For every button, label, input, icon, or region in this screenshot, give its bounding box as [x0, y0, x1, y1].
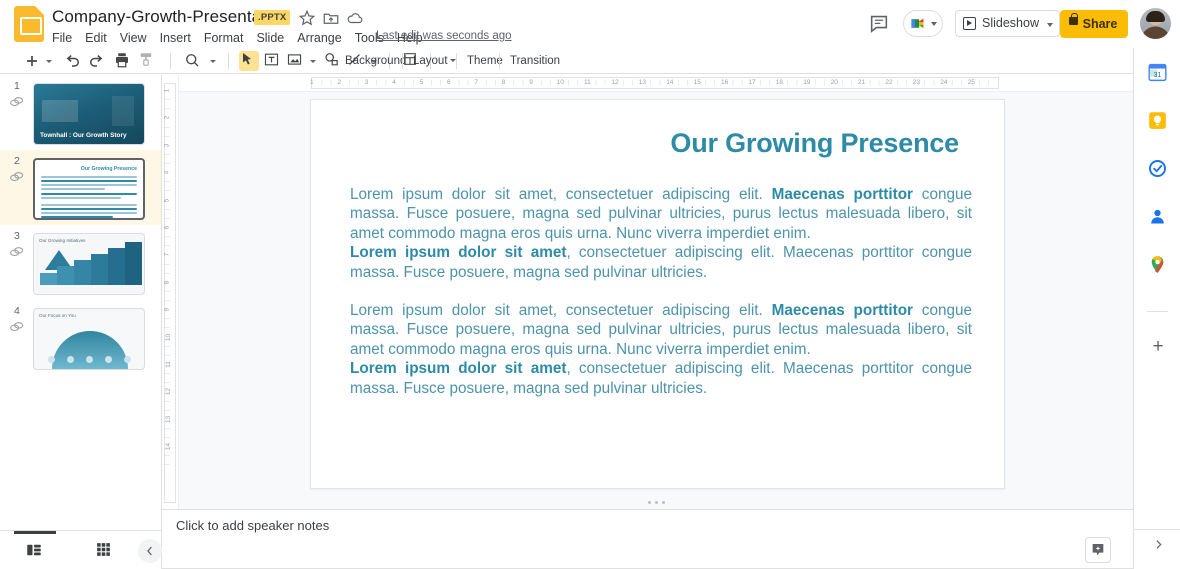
top-bar: Company-Growth-Presentation .PPTX FileEd… — [0, 0, 1180, 48]
ruler-tick: 21 — [858, 79, 865, 86]
ruler-minor-tick: | — [513, 79, 515, 86]
ruler-minor-tick: | — [924, 79, 926, 86]
ruler-minor-tick: | — [988, 79, 990, 86]
menu-slide[interactable]: Slide — [256, 31, 284, 45]
ruler-minor-tick: | — [632, 79, 634, 86]
ruler-tick: 9 — [163, 308, 170, 312]
ruler-tick: 5 — [163, 198, 170, 202]
slideshow-button[interactable]: Slideshow — [955, 10, 1041, 37]
ruler-minor-tick: | — [623, 79, 625, 86]
insert-image-icon[interactable] — [286, 51, 306, 71]
ruler-tick: 1 — [163, 89, 170, 93]
ruler-minor-tick: | — [321, 79, 323, 86]
toolbar-divider-2 — [228, 53, 229, 69]
lock-icon — [1069, 17, 1078, 25]
ruler-tick: 6 — [163, 226, 170, 230]
ruler-minor-tick: | — [951, 79, 953, 86]
slide-thumbnail-1[interactable]: 1 Townhall : Our Growth Story — [0, 75, 161, 150]
ruler-tick: 22 — [885, 79, 892, 86]
thumbnail-title: Our Growing Presence — [81, 166, 137, 172]
ruler-tick: 11 — [165, 361, 172, 368]
ruler-minor-tick: | — [163, 400, 170, 402]
google-keep-icon[interactable] — [1147, 110, 1168, 131]
ruler-tick: 10 — [165, 333, 172, 340]
menu-insert[interactable]: Insert — [160, 31, 191, 45]
ruler-minor-tick: | — [732, 79, 734, 86]
slide-transition-icon[interactable] — [9, 95, 25, 109]
ruler-tick: 2 — [163, 116, 170, 120]
google-tasks-icon[interactable] — [1147, 158, 1168, 179]
ruler-minor-tick: | — [163, 135, 170, 137]
thumbnail-title: Our Growing Initiatives — [39, 238, 85, 243]
slide-paragraph: Lorem ipsum dolor sit amet, consectetuer… — [350, 301, 972, 359]
thumbnail-image: Our Growing Initiatives — [33, 233, 145, 295]
google-slides-logo[interactable] — [14, 6, 44, 42]
ruler-minor-tick: | — [595, 79, 597, 86]
side-panel: 31 + — [1133, 48, 1180, 529]
ruler-tick: 25 — [968, 79, 975, 86]
ruler-minor-tick: | — [604, 79, 606, 86]
ruler-tick: 2 — [337, 79, 341, 86]
ruler-minor-tick: | — [878, 79, 880, 86]
ruler-tick: 8 — [163, 280, 170, 284]
menu-arrange[interactable]: Arrange — [297, 31, 341, 45]
layout-label: Layout — [413, 55, 448, 67]
redo-icon[interactable] — [87, 51, 109, 71]
ruler-minor-tick: | — [163, 345, 170, 347]
slide-body-text[interactable]: Lorem ipsum dolor sit amet, consectetuer… — [350, 185, 972, 398]
select-arrow-icon[interactable] — [239, 51, 259, 71]
slide-title[interactable]: Our Growing Presence — [670, 128, 959, 159]
slide-transition-icon[interactable] — [9, 320, 25, 334]
grid-view-icon[interactable] — [95, 541, 115, 561]
ruler-tick: 11 — [584, 79, 591, 86]
comment-history-icon[interactable] — [868, 12, 890, 34]
notes-resize-handle[interactable] — [179, 497, 1133, 509]
slide-paragraph: Lorem ipsum dolor sit amet, consectetuer… — [350, 359, 972, 398]
ruler-minor-tick: | — [979, 79, 981, 86]
zoom-dropdown-icon[interactable] — [206, 51, 218, 71]
ruler-minor-tick: | — [814, 79, 816, 86]
ruler-minor-tick: | — [686, 79, 688, 86]
slide-paragraph: Lorem ipsum dolor sit amet, consectetuer… — [350, 185, 972, 243]
ruler-minor-tick: | — [851, 79, 853, 86]
ruler-tick: 13 — [639, 79, 646, 86]
ruler-minor-tick: | — [376, 79, 378, 86]
menu-view[interactable]: View — [120, 31, 147, 45]
ruler-minor-tick: | — [163, 208, 170, 210]
print-icon[interactable] — [113, 51, 135, 71]
ruler-tick: 3 — [365, 79, 369, 86]
ruler-minor-tick: | — [787, 79, 789, 86]
slide-transition-icon[interactable] — [9, 245, 25, 259]
ruler-tick: 23 — [913, 79, 920, 86]
zoom-icon[interactable] — [183, 51, 205, 71]
ruler-tick: 9 — [529, 79, 533, 86]
ruler-minor-tick: | — [385, 79, 387, 86]
last-edit-link[interactable]: Last edit was seconds ago — [376, 30, 512, 42]
ruler-minor-tick: | — [163, 272, 170, 274]
ruler-tick: 4 — [163, 171, 170, 175]
ruler-minor-tick: | — [163, 291, 170, 293]
google-maps-icon[interactable] — [1147, 254, 1168, 275]
ruler-tick: 15 — [694, 79, 701, 86]
ruler-minor-tick: | — [163, 126, 170, 128]
ruler-tick: 17 — [748, 79, 755, 86]
ruler-tick: 14 — [666, 79, 673, 86]
slideshow-dropdown-button[interactable] — [1040, 10, 1060, 37]
toolbar-divider — [170, 53, 171, 69]
ruler-minor-tick: | — [358, 79, 360, 86]
expand-panel-icon[interactable] — [1152, 538, 1170, 556]
add-app-icon[interactable]: + — [1149, 338, 1167, 356]
ruler-minor-tick: | — [705, 79, 707, 86]
thumbnail-image: Townhall : Our Growth Story — [33, 83, 145, 145]
ruler-minor-tick: | — [897, 79, 899, 86]
ruler-tick: 12 — [165, 388, 172, 395]
share-button[interactable]: Share — [1060, 10, 1128, 38]
ruler-minor-tick: | — [440, 79, 442, 86]
add-slide-icon[interactable] — [22, 51, 42, 71]
ruler-minor-tick: | — [869, 79, 871, 86]
ruler-minor-tick: | — [163, 218, 170, 220]
ruler-tick: 13 — [165, 416, 172, 423]
ruler-minor-tick: | — [163, 263, 170, 265]
google-contacts-icon[interactable] — [1147, 206, 1168, 227]
google-slides-window: Company-Growth-Presentation .PPTX FileEd… — [0, 0, 1180, 569]
insert-image-dropdown-icon[interactable] — [306, 51, 318, 71]
undo-icon[interactable] — [62, 51, 84, 71]
ruler-minor-tick: | — [796, 79, 798, 86]
ruler-minor-tick: | — [163, 409, 170, 411]
ruler-minor-tick: | — [769, 79, 771, 86]
ruler-tick: 4 — [392, 79, 396, 86]
ruler-minor-tick: | — [823, 79, 825, 86]
ruler-tick: 24 — [940, 79, 947, 86]
text-box-icon[interactable] — [263, 51, 283, 71]
ruler-minor-tick: | — [467, 79, 469, 86]
ruler-minor-tick: | — [577, 79, 579, 86]
ruler-minor-tick: | — [458, 79, 460, 86]
speaker-notes-panel[interactable]: Click to add speaker notes — [162, 509, 1133, 569]
active-view-indicator — [14, 531, 56, 534]
ruler-minor-tick: | — [412, 79, 414, 86]
ruler-minor-tick: | — [933, 79, 935, 86]
ruler-tick: 14 — [165, 443, 172, 450]
menu-edit[interactable]: Edit — [85, 31, 107, 45]
menu-format[interactable]: Format — [204, 31, 244, 45]
current-slide[interactable]: Our Growing Presence Lorem ipsum dolor s… — [310, 99, 1005, 489]
ruler-minor-tick: | — [403, 79, 405, 86]
slide-thumbnail-3[interactable]: 3 Our Growing Initiatives — [0, 225, 161, 300]
ruler-tick: 5 — [420, 79, 424, 86]
thumbnail-image: Our Growing Presence — [33, 158, 145, 220]
ruler-minor-tick: | — [163, 236, 170, 238]
speaker-notes-placeholder: Click to add speaker notes — [176, 518, 329, 533]
ruler-minor-tick: | — [495, 79, 497, 86]
move-to-folder-icon[interactable] — [322, 9, 340, 27]
ruler-tick: 18 — [776, 79, 783, 86]
slide-number: 1 — [14, 80, 20, 92]
cloud-saved-icon[interactable] — [346, 9, 364, 27]
bottom-bar — [0, 530, 162, 569]
filmstrip-view-icon[interactable] — [25, 541, 45, 561]
ruler-minor-tick: | — [349, 79, 351, 86]
ruler-minor-tick: | — [659, 79, 661, 86]
slide-number: 3 — [14, 230, 20, 242]
slide-number: 2 — [14, 155, 20, 167]
paint-format-icon[interactable] — [137, 51, 159, 71]
slideshow-label: Slideshow — [982, 16, 1039, 30]
ruler-minor-tick: | — [568, 79, 570, 86]
ruler-tick: 8 — [502, 79, 506, 86]
ruler-tick: 19 — [803, 79, 810, 86]
ruler-minor-tick: | — [906, 79, 908, 86]
slide-thumbnail-2[interactable]: 2 Our Growing Presence — [0, 150, 161, 225]
ruler-tick: 1 — [310, 79, 314, 86]
svg-text:31: 31 — [1154, 72, 1162, 79]
google-meet-button[interactable] — [903, 10, 943, 37]
slide-thumbnail-4[interactable]: 4 Our Focus on You — [0, 300, 161, 375]
google-calendar-icon[interactable]: 31 — [1147, 62, 1168, 83]
horizontal-ruler[interactable]: 1||2||3||4||5||6||7||8||9||10||11||12||1… — [179, 75, 1133, 92]
ruler-minor-tick: | — [760, 79, 762, 86]
ruler-tick: 16 — [721, 79, 728, 86]
ruler-minor-tick: | — [650, 79, 652, 86]
ruler-minor-tick: | — [677, 79, 679, 86]
ruler-minor-tick: | — [163, 428, 170, 430]
ruler-minor-tick: | — [714, 79, 716, 86]
ruler-minor-tick: | — [431, 79, 433, 86]
slide-filmstrip[interactable]: 1 Townhall : Our Growth Story 2 Our Grow… — [0, 75, 162, 530]
slide-canvas-area[interactable]: Our Growing Presence Lorem ipsum dolor s… — [179, 92, 1133, 497]
ruler-minor-tick: | — [163, 99, 170, 101]
file-format-badge: .PPTX — [254, 10, 290, 25]
thumbnail-title: Our Focus on You — [39, 313, 76, 318]
add-slide-dropdown-icon[interactable] — [42, 51, 54, 71]
collapse-filmstrip-icon[interactable] — [138, 539, 162, 563]
toolbar: Background Layout Theme Transition — [0, 48, 1180, 74]
ruler-tick: 10 — [557, 79, 564, 86]
ruler-minor-tick: | — [163, 437, 170, 439]
play-icon — [963, 17, 976, 30]
ruler-minor-tick: | — [741, 79, 743, 86]
star-icon[interactable] — [298, 9, 316, 27]
slide-paragraph: Lorem ipsum dolor sit amet, consectetuer… — [350, 243, 972, 282]
share-label: Share — [1083, 17, 1118, 31]
ruler-tick: 3 — [163, 143, 170, 147]
side-panel-divider — [1147, 311, 1168, 312]
ruler-minor-tick: | — [163, 300, 170, 302]
ruler-tick: 6 — [447, 79, 451, 86]
ruler-minor-tick: | — [960, 79, 962, 86]
avatar[interactable] — [1140, 8, 1171, 39]
ruler-minor-tick: | — [842, 79, 844, 86]
explore-icon[interactable] — [1085, 537, 1111, 563]
ruler-minor-tick: | — [163, 355, 170, 357]
transition-button[interactable]: Transition — [503, 51, 567, 71]
ruler-minor-tick: | — [540, 79, 542, 86]
ruler-tick: 7 — [474, 79, 478, 86]
ruler-minor-tick: | — [486, 79, 488, 86]
ruler-minor-tick: | — [163, 373, 170, 375]
menu-file[interactable]: File — [52, 31, 72, 45]
ruler-tick: 7 — [163, 253, 170, 257]
ruler-minor-tick: | — [522, 79, 524, 86]
ruler-tick: 20 — [831, 79, 838, 86]
ruler-minor-tick: | — [549, 79, 551, 86]
layout-button[interactable]: Layout — [406, 51, 463, 71]
thumbnail-image: Our Focus on You — [33, 308, 145, 370]
slide-number: 4 — [14, 305, 20, 317]
thumbnail-title: Townhall : Our Growth Story — [40, 132, 132, 140]
vertical-ruler[interactable]: 1||2||3||4||5||6||7||8||9||10||11||12||1… — [162, 75, 179, 530]
ruler-tick: 12 — [611, 79, 618, 86]
slide-transition-icon[interactable] — [9, 170, 25, 184]
paragraph-gap — [350, 282, 972, 301]
ruler-minor-tick: | — [163, 163, 170, 165]
ruler-minor-tick: | — [330, 79, 332, 86]
ruler-minor-tick: | — [163, 154, 170, 156]
